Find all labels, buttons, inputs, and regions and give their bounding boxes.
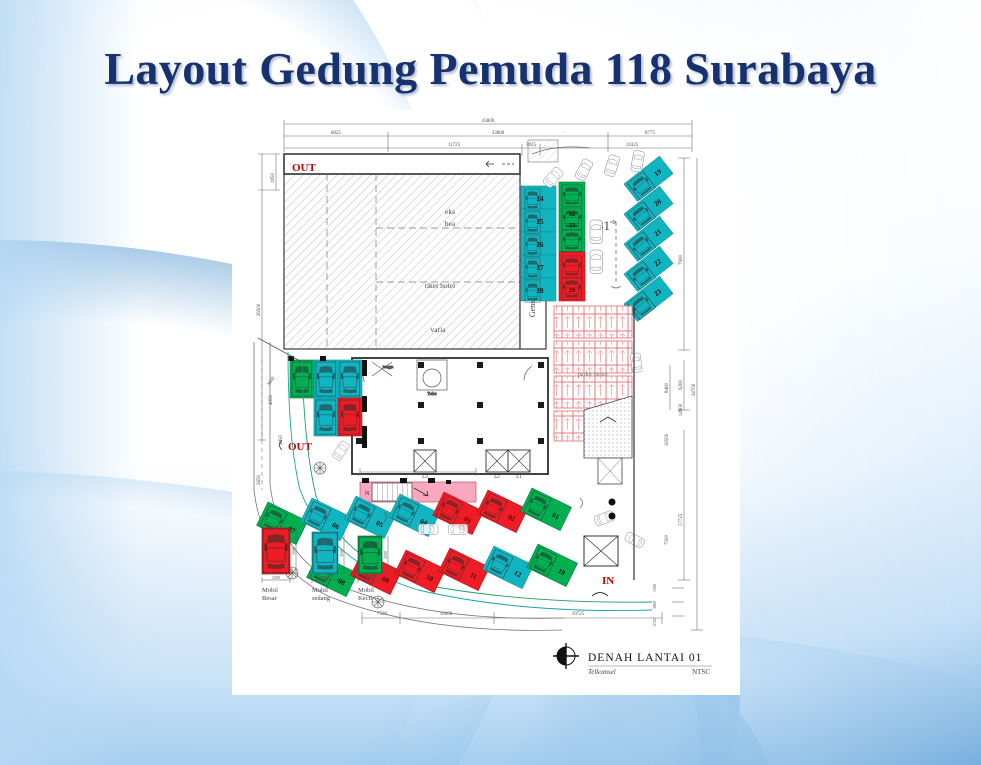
parking-diagonal-east: 19 20 21 22 23 [624,156,673,321]
presentation-slide: Layout Gedung Pemuda 118 Surabaya [0,0,981,765]
drawing-title-block: DENAH LANTAI 01 Telkomsel NTSC [553,643,712,676]
svg-text:L1: L1 [516,475,522,480]
svg-text:3000: 3000 [267,376,277,388]
dimension-right-labels: 7900 9200 8400 14900 34700 16500 17725 7… [652,255,697,627]
svg-text:8025: 8025 [331,131,342,136]
svg-text:26500: 26500 [257,303,262,316]
svg-text:4300: 4300 [383,551,388,559]
dimension-left-labels: 1850 26500 2650 4850 [257,173,276,486]
svg-text:Kecil: Kecil [358,595,372,602]
svg-text:9200: 9200 [679,380,684,391]
svg-text:33800: 33800 [492,131,505,136]
svg-text:Mobil: Mobil [358,587,374,594]
svg-text:2725: 2725 [652,618,657,626]
exit-label-out-mid: OUT [288,441,313,453]
sheet-subtitle: Telkomsel [588,668,616,676]
svg-text:varia: varia [431,325,447,334]
svg-text:Mobil: Mobil [262,587,278,594]
svg-text:7500: 7500 [665,535,670,546]
svg-text:8775: 8775 [645,131,656,136]
svg-text:tangga: tangga [383,364,394,369]
svg-text:11725: 11725 [448,143,461,148]
svg-text:L3: L3 [422,475,428,480]
stall-group-red-north: 29 [559,252,585,301]
svg-text:27: 27 [537,264,545,272]
stall-group-green-north: 32 33 [559,182,585,252]
svg-text:4500: 4500 [339,549,344,557]
svg-text:bea: bea [445,219,456,228]
svg-text:8400: 8400 [665,383,670,394]
dimension-right [670,158,703,630]
svg-text:tiket hotel: tiket hotel [425,281,455,290]
svg-text:16500: 16500 [665,433,670,446]
svg-text:33: 33 [569,222,576,229]
svg-text:1300: 1300 [652,584,657,592]
dimension-top [284,120,692,156]
callout-leader [610,220,621,288]
svg-text:26: 26 [537,241,545,249]
stall-group-teal-north: 24 25 26 27 28 [521,186,556,302]
svg-text:eks: eks [445,207,455,216]
svg-text:29: 29 [569,287,576,294]
svg-text:sedang: sedang [312,595,331,602]
svg-text:parkir motor: parkir motor [578,372,608,378]
svg-text:2500: 2500 [272,575,280,580]
svg-text:14900: 14900 [679,403,684,416]
in-arrow [592,593,608,597]
svg-text:14325: 14325 [626,143,639,148]
parking-diagonal-south-lower: 08 09 10 11 12 18 [307,544,578,597]
building-north-block [284,154,520,349]
svg-text:34700: 34700 [692,383,697,396]
floor-plan-drawing: 43800 8025 33800 8775 11725 3025 14325 1… [232,110,740,695]
background-left-fade [0,0,140,765]
svg-text:1850: 1850 [271,173,276,184]
dimension-top-labels: 43800 8025 33800 8775 11725 3025 14325 [331,119,656,148]
north-arrow-icon [553,643,579,669]
svg-text:Toilet: Toilet [427,391,437,396]
exit-label-out-top: OUT [292,162,317,174]
svg-text:1800: 1800 [652,601,657,609]
svg-text:17725: 17725 [679,513,684,526]
svg-text:24: 24 [537,195,545,203]
svg-text:28: 28 [537,287,545,295]
legend-vehicle-sizes: 2500 5000 Mobil Besar 2300 4500 Mobil se… [262,528,388,602]
building-main-hall: L3 L2 L1 Toilet tangga [352,358,548,480]
svg-text:Besar: Besar [262,595,278,602]
svg-text:32: 32 [569,211,576,218]
parking-bank-west [288,356,367,448]
sheet-scale: NTSC [692,668,710,676]
slide-title: Layout Gedung Pemuda 118 Surabaya [0,42,981,95]
svg-text:4850: 4850 [279,435,284,446]
parking-bank-north: 24 25 26 27 28 32 33 [521,182,585,302]
svg-text:L2: L2 [494,475,500,480]
sheet-title: DENAH LANTAI 01 [588,652,702,664]
svg-text:Mobil: Mobil [312,587,328,594]
entry-label-in: IN [602,575,614,587]
svg-text:2650: 2650 [257,475,262,486]
road-dim-labels: 3000 4850 [267,376,284,445]
svg-text:2300: 2300 [321,575,329,580]
svg-text:19725: 19725 [572,612,585,617]
svg-text:7900: 7900 [679,255,684,266]
svg-text:43800: 43800 [482,119,495,124]
svg-text:2200: 2200 [366,575,374,580]
svg-text:25: 25 [537,218,545,226]
svg-text:5000: 5000 [291,547,296,555]
svg-text:N: N [365,491,370,497]
